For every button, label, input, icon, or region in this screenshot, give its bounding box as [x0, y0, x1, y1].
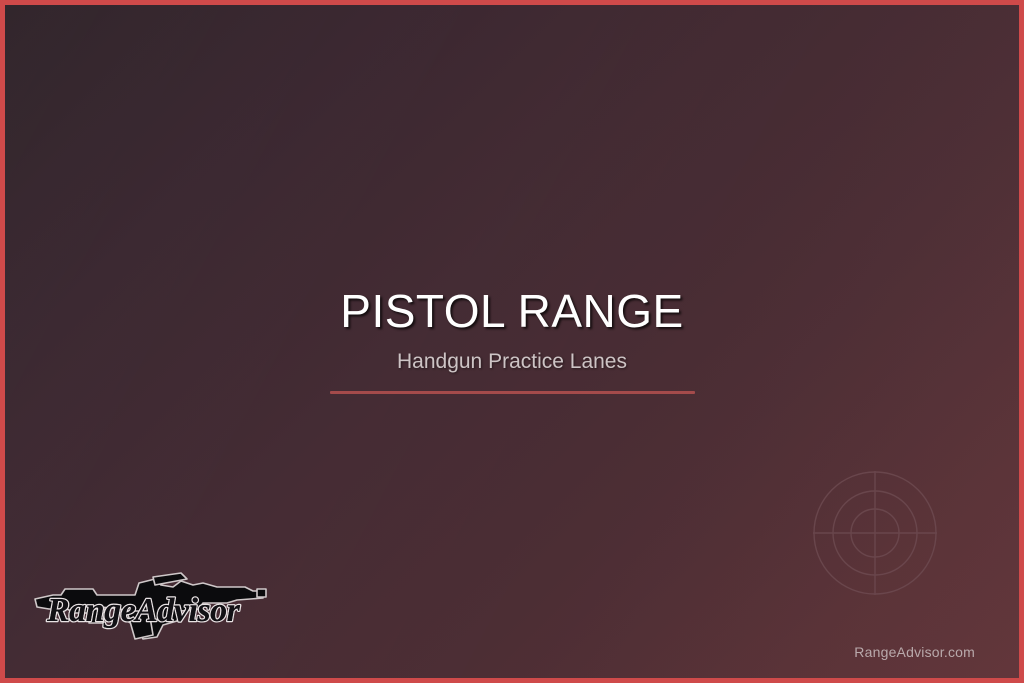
presentation-slide: PISTOL RANGE Handgun Practice Lanes [0, 0, 1024, 683]
crosshair-target-icon [813, 471, 937, 595]
rifle-logo-icon: RangeAdvisor [31, 565, 267, 647]
footer-url: RangeAdvisor.com [854, 644, 975, 660]
page-title: PISTOL RANGE [5, 287, 1019, 337]
page-subtitle: Handgun Practice Lanes [5, 349, 1019, 374]
title-divider [330, 391, 695, 394]
title-block: PISTOL RANGE Handgun Practice Lanes [5, 287, 1019, 394]
